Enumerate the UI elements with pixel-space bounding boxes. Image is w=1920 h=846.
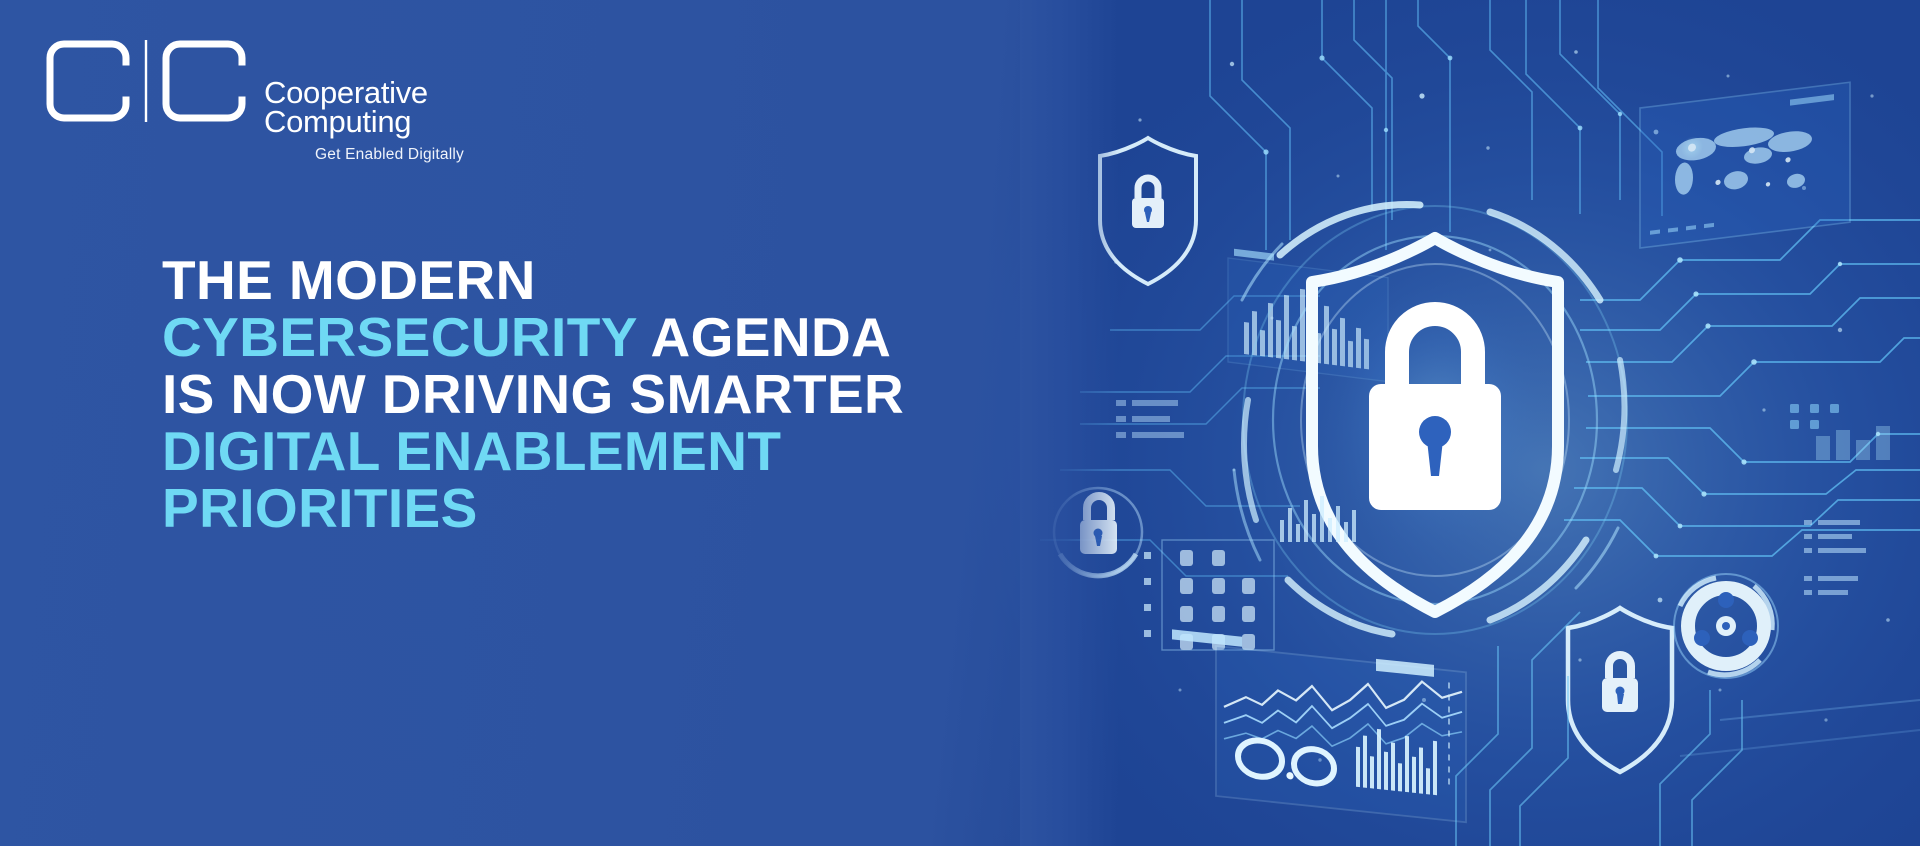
headline-line-2-accent: CYBERSECURITY [162, 306, 637, 368]
logo-name-line2: Computing [264, 107, 464, 136]
headline-line-3: IS NOW DRIVING SMARTER [162, 366, 952, 423]
brand-logo[interactable]: Cooperative Computing Get Enabled Digita… [42, 38, 462, 148]
logo-wordmark: Cooperative Computing [264, 78, 464, 136]
headline-line-4: DIGITAL ENABLEMENT [162, 423, 952, 480]
gear-icon [1674, 574, 1778, 678]
logo-tagline: Get Enabled Digitally [264, 146, 464, 164]
page-title: THE MODERN CYBERSECURITY AGENDA IS NOW D… [162, 252, 952, 537]
world-map-panel [1640, 82, 1850, 248]
logo-name-line1: Cooperative [264, 78, 464, 107]
headline-line-2: CYBERSECURITY AGENDA [162, 309, 952, 366]
headline-line-2-rest: AGENDA [637, 306, 891, 368]
headline-line-1: THE MODERN [162, 252, 952, 309]
headline-line-5: PRIORITIES [162, 480, 952, 537]
banner-root: Cooperative Computing Get Enabled Digita… [0, 0, 1920, 846]
logo-cc-mark [42, 38, 254, 124]
cybersecurity-graphic [1020, 0, 1920, 846]
